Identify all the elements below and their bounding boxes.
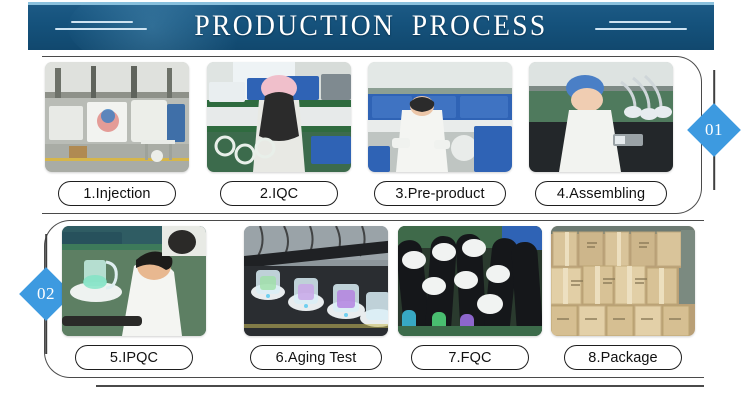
step-label-pill: 3.Pre-product (374, 181, 506, 206)
step-label-pill: 5.IPQC (75, 345, 193, 370)
step-label-pill: 8.Package (564, 345, 682, 370)
badge-02-label: 02 (27, 275, 65, 313)
bottom-divider (96, 385, 704, 387)
banner-inner: PRODUCTION PROCESS (55, 9, 687, 43)
process-step-card[interactable]: 3.Pre-product (368, 62, 512, 206)
process-step-card[interactable]: 6.Aging Test (244, 226, 388, 370)
process-step-card[interactable]: 8.Package (551, 226, 695, 370)
step-photo-fqc (398, 226, 542, 336)
step-photo-pre-product (368, 62, 512, 172)
step-photo-assembling (529, 62, 673, 172)
step-photo-iqc (207, 62, 351, 172)
header-left-decoration-icon (55, 17, 163, 35)
process-step-card[interactable]: 5.IPQC (62, 226, 206, 370)
page-header-banner: PRODUCTION PROCESS (28, 2, 714, 50)
step-label-pill: 2.IQC (220, 181, 338, 206)
step-photo-aging-test (244, 226, 388, 336)
process-step-card[interactable]: 1.Injection (45, 62, 189, 206)
header-right-decoration-icon (579, 17, 687, 35)
step-label-pill: 4.Assembling (535, 181, 667, 206)
step-photo-injection (45, 62, 189, 172)
process-step-card[interactable]: 2.IQC (207, 62, 351, 206)
step-photo-ipqc (62, 226, 206, 336)
page-title: PRODUCTION PROCESS (194, 9, 547, 43)
step-label-pill: 7.FQC (411, 345, 529, 370)
badge-01-label: 01 (695, 111, 733, 149)
step-label-pill: 1.Injection (58, 181, 176, 206)
process-step-card[interactable]: 7.FQC (398, 226, 542, 370)
step-group-badge-01: 01 (686, 70, 742, 190)
badge-01-diamond: 01 (687, 103, 741, 157)
step-label-pill: 6.Aging Test (250, 345, 382, 370)
step-photo-package (551, 226, 695, 336)
process-step-card[interactable]: 4.Assembling (529, 62, 673, 206)
